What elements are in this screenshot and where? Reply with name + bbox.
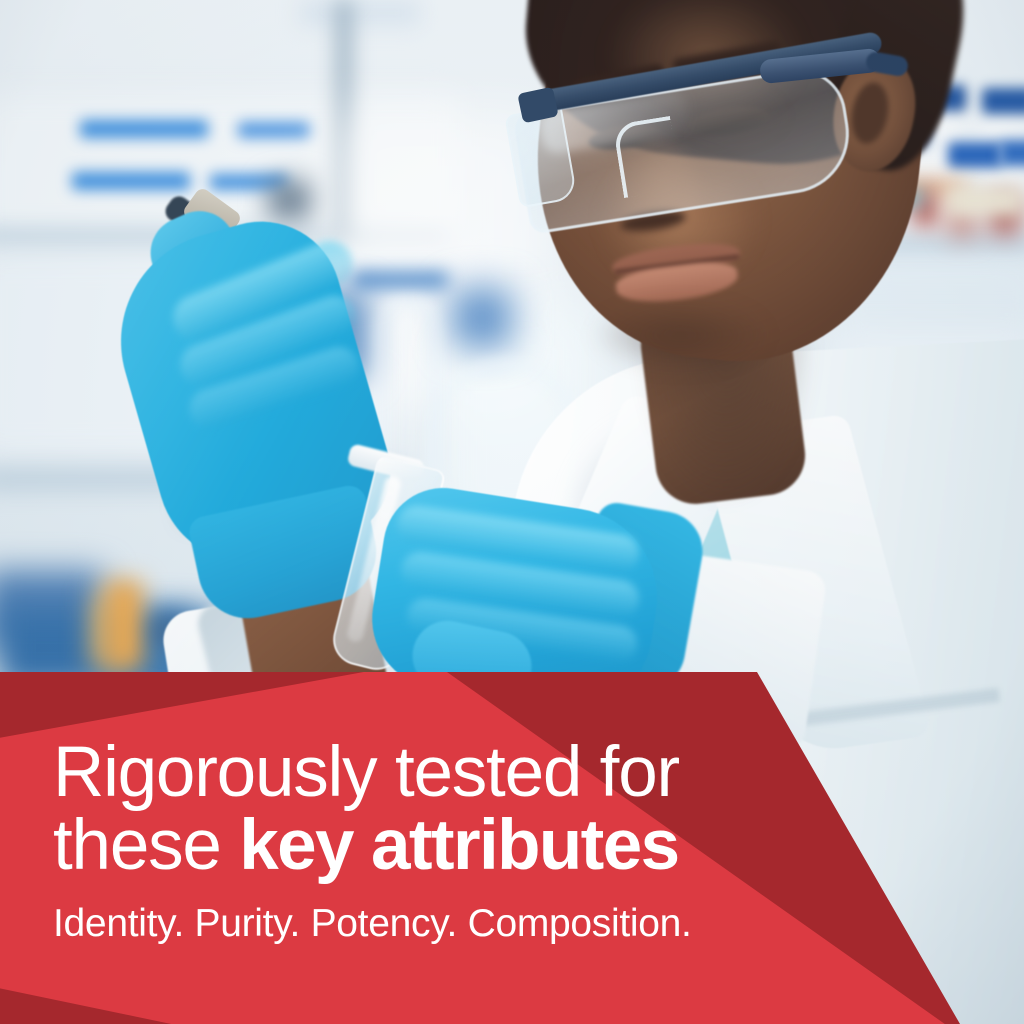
headline-line-2: these key attributes <box>53 809 773 882</box>
bg-blue-haze-2 <box>452 288 512 348</box>
bg-blue-stripe <box>352 272 448 288</box>
bg-blue-label-3 <box>72 172 190 190</box>
bg-clamp <box>268 180 314 220</box>
headline-line-2-bold: key attributes <box>239 806 678 885</box>
bg-white-panel <box>300 0 420 26</box>
chin-shadow <box>590 300 770 370</box>
banner-text-block: Rigorously tested for these key attribut… <box>53 736 773 946</box>
headline-line-1: Rigorously tested for <box>53 736 773 809</box>
subheadline: Identity. Purity. Potency. Composition. <box>53 903 773 946</box>
bg-blue-cap-4 <box>948 142 1002 168</box>
headline-line-2-light: these <box>53 806 239 885</box>
bg-blue-cap-2 <box>982 88 1024 114</box>
safety-goggles-bridge <box>613 116 682 198</box>
bg-amber-bottle <box>105 580 143 670</box>
bg-blue-label-1 <box>80 120 208 138</box>
bg-blue-label-2 <box>238 122 310 138</box>
bg-paper-label <box>946 186 1024 216</box>
bg-blue-cap-5 <box>1000 140 1024 166</box>
banner-canvas: Rigorously tested for these key attribut… <box>0 0 1024 1024</box>
